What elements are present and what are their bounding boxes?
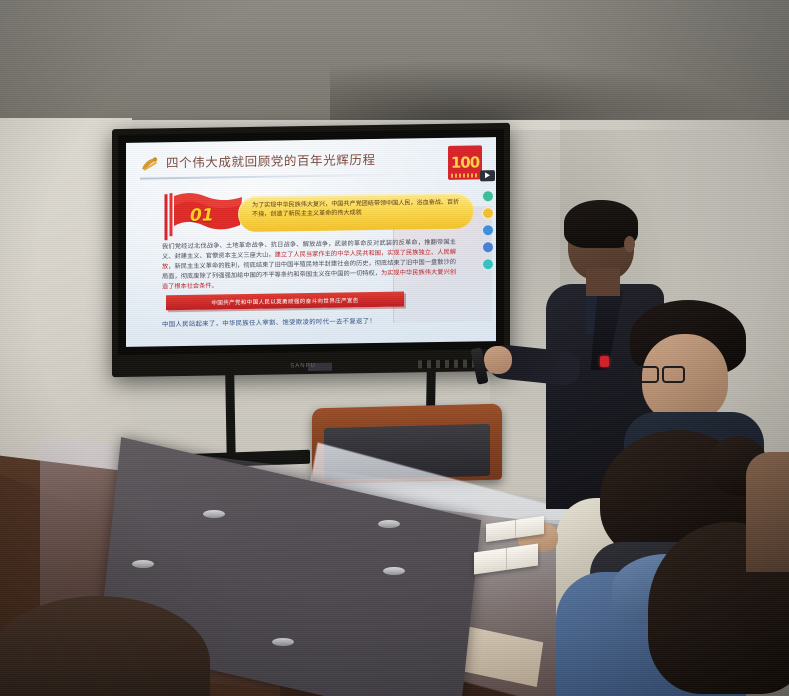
party-badge-icon — [600, 356, 609, 367]
table-grommet-cap — [203, 510, 225, 518]
attendee-foreground-left — [0, 596, 220, 696]
presentation-slide[interactable]: 四个伟大成就回顾党的百年光辉历程 100 01 为了实现中华民族伟大复兴，中国共… — [126, 137, 496, 347]
ceiling — [0, 0, 789, 128]
attendee-hair — [0, 596, 210, 696]
table-grommet-cap — [383, 567, 405, 575]
slide-tool-strip[interactable] — [481, 190, 494, 270]
cpc-100th-anniversary-logo: 100 — [448, 145, 482, 180]
logo-number: 100 — [451, 153, 479, 171]
attendee-far-right-shoulder — [746, 452, 789, 572]
play-icon[interactable] — [480, 170, 495, 181]
presenter-ear — [624, 236, 635, 252]
interactive-flat-panel[interactable]: SANPU 四个伟大成就回顾党的百年光辉历程 100 — [112, 123, 510, 377]
section-number: 01 — [190, 206, 214, 226]
display-stand-left-leg — [225, 372, 236, 464]
spotlight-icon[interactable] — [482, 258, 494, 270]
slide-body-text: 我们党经过北伐战争、土地革命战争、抗日战争、解放战争，武装的革命反对武装的反革命… — [162, 238, 456, 293]
attendee-glasses — [630, 300, 750, 450]
meeting-room-photo: SANPU 四个伟大成就回顾党的百年光辉历程 100 — [0, 0, 789, 696]
table-grommet-cap — [132, 560, 154, 568]
attendee-torso — [746, 452, 789, 572]
red-flag-graphic: 01 — [160, 189, 246, 242]
slide-title: 四个伟大成就回顾党的百年光辉历程 — [166, 149, 376, 171]
presenter-neck — [586, 268, 620, 296]
pen-icon[interactable] — [482, 207, 494, 219]
highlighter-icon[interactable] — [482, 224, 494, 236]
presenter-hand — [484, 346, 512, 374]
red-banner-text: 中国共产党和中国人民以英勇顽强的奋斗向世界庄严宣告 — [211, 296, 358, 306]
slide-header: 四个伟大成就回顾党的百年光辉历程 100 — [140, 147, 482, 178]
laser-pointer-icon[interactable] — [482, 190, 494, 202]
cpc-hammer-sickle-emblem — [140, 155, 160, 172]
table-grommet-cap — [272, 638, 294, 646]
slide-callout-box: 为了实现中华民族伟大复兴，中国共产党团结带领中国人民，浴血奋战、百折不挠，创造了… — [238, 192, 474, 232]
display-brand-label: SANPU — [290, 363, 316, 369]
eraser-icon[interactable] — [482, 241, 494, 253]
callout-text: 为了实现中华民族伟大复兴，中国共产党团结带领中国人民，浴血奋战、百折不挠，创造了… — [238, 192, 474, 220]
table-grommet-cap — [378, 520, 400, 528]
eyeglasses-icon — [636, 366, 682, 380]
